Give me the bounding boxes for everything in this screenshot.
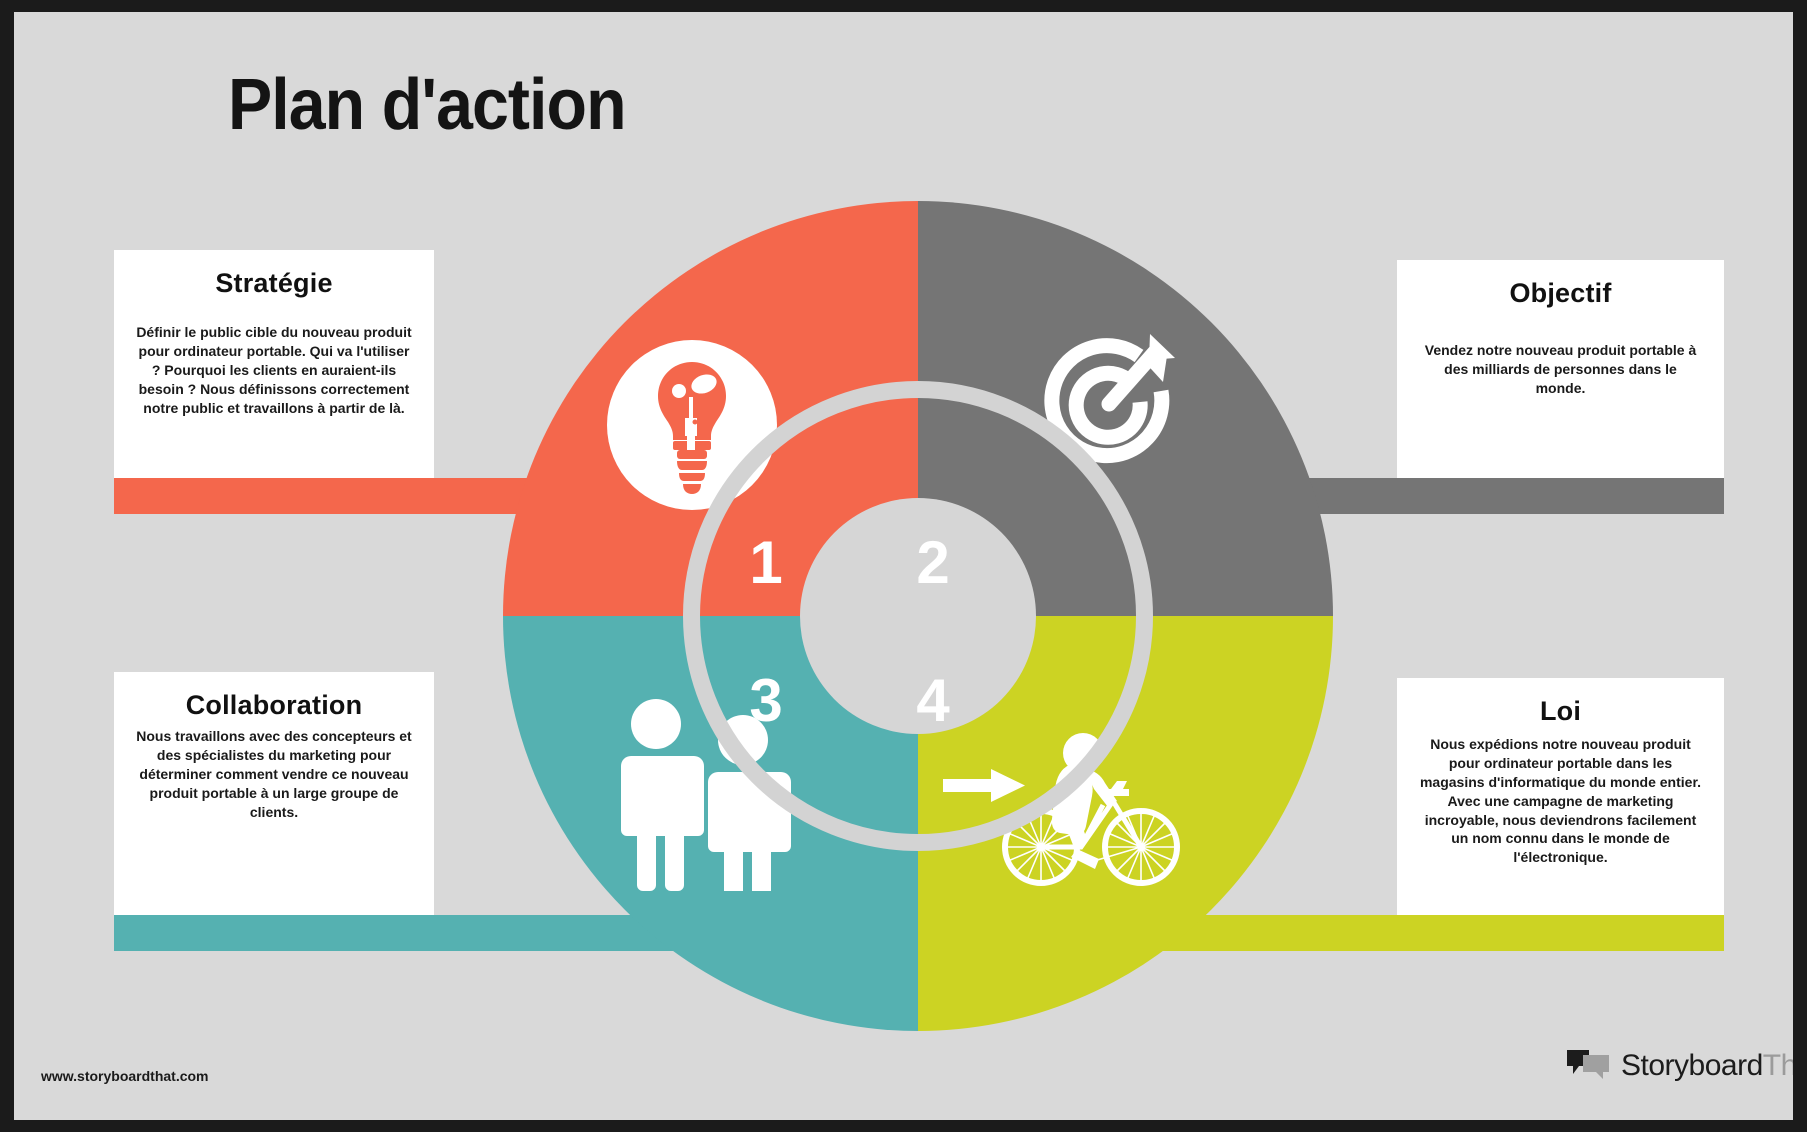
logo-text-secondary: That [1763,1049,1793,1082]
storyboardthat-logo[interactable]: StoryboardThat [1565,1048,1793,1084]
card-collaboration: Collaboration Nous travaillons avec des … [114,672,434,915]
speech-bubbles-icon [1565,1048,1613,1084]
quadrant-wheel: 1 2 3 4 [503,201,1333,1031]
card-loi-body: Nous expédions notre nouveau produit pou… [1419,735,1702,867]
infographic-poster: Plan d'action [14,12,1793,1120]
card-collaboration-heading: Collaboration [136,690,412,721]
quadrant-number-1: 1 [731,533,801,593]
footer-url[interactable]: www.storyboardthat.com [41,1068,209,1084]
quadrant-number-2: 2 [898,533,968,593]
quadrant-number-4: 4 [898,671,968,731]
card-objectif-body: Vendez notre nouveau produit portable à … [1419,319,1702,398]
target-arrow-icon [1037,326,1187,476]
card-loi-heading: Loi [1419,696,1702,727]
card-collaboration-body: Nous travaillons avec des concepteurs et… [136,727,412,821]
card-loi: Loi Nous expédions notre nouveau produit… [1397,678,1724,915]
card-objectif: Objectif Vendez notre nouveau produit po… [1397,260,1724,478]
card-objectif-heading: Objectif [1419,278,1702,309]
card-strategie: Stratégie Définir le public cible du nou… [114,250,434,478]
page-title: Plan d'action [228,64,626,146]
lightbulb-icon [607,340,777,510]
card-strategie-body: Définir le public cible du nouveau produ… [136,309,412,417]
bicycle-rider-icon [943,731,1203,891]
logo-text: StoryboardThat [1621,1049,1793,1083]
card-strategie-heading: Stratégie [136,268,412,299]
logo-text-primary: Storyboard [1621,1049,1763,1082]
quadrant-number-3: 3 [731,671,801,731]
